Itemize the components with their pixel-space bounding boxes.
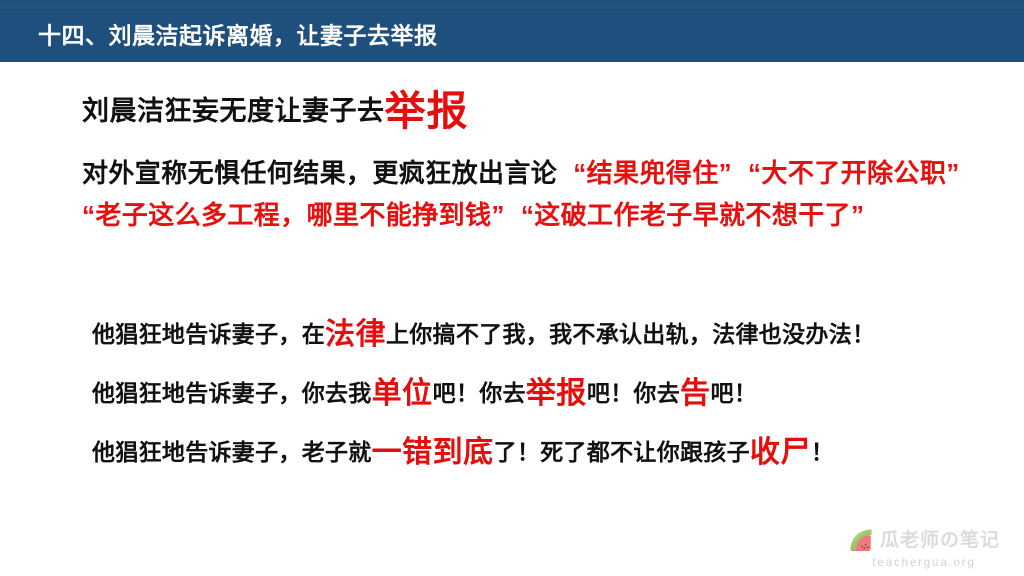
lead-black-text: 刘晨洁狂妄无度让妻子去 bbox=[82, 96, 385, 126]
watermark-name: 瓜老师の笔记 bbox=[880, 531, 1000, 550]
watermark: 瓜老师の笔记 teachergua.org bbox=[848, 527, 1000, 568]
watermelon-slice-icon bbox=[848, 527, 874, 553]
page-title: 十四、刘晨洁起诉离婚，让妻子去举报 bbox=[38, 24, 438, 47]
quote-red-3: “老子这么多工程，哪里不能挣到钱” bbox=[82, 200, 505, 230]
claim-segment: 他猖狂地告诉妻子，老子就 bbox=[92, 439, 372, 465]
claims-block: 他猖狂地告诉妻子，在法律上你搞不了我，我不承认出轨，法律也没办法！ 他猖狂地告诉… bbox=[92, 320, 992, 468]
slide-header-band: 十四、刘晨洁起诉离婚，让妻子去举报 bbox=[0, 6, 1024, 62]
claim-line: 他猖狂地告诉妻子，老子就一错到底了！死了都不让你跟孩子收尸！ bbox=[92, 438, 992, 468]
claim-line: 他猖狂地告诉妻子，你去我单位吧！你去举报吧！你去告吧！ bbox=[92, 379, 992, 409]
claim-highlight: 单位 bbox=[372, 377, 433, 410]
claim-highlight: 一错到底 bbox=[372, 436, 494, 469]
lead-red-highlight: 举报 bbox=[385, 88, 469, 134]
watermark-url: teachergua.org bbox=[872, 556, 975, 568]
claim-highlight: 告 bbox=[680, 377, 711, 410]
quote-red-2: “大不了开除公职” bbox=[748, 158, 960, 188]
claim-segment: 上你搞不了我，我不承认出轨，法律也没办法！ bbox=[386, 321, 875, 347]
watermark-row: 瓜老师の笔记 bbox=[848, 527, 1000, 553]
slide-canvas: 十四、刘晨洁起诉离婚，让妻子去举报 刘晨洁狂妄无度让妻子去举报 对外宣称无惧任何… bbox=[0, 0, 1024, 576]
claim-segment: 吧！ bbox=[711, 380, 758, 406]
claim-segment: 他猖狂地告诉妻子，在 bbox=[92, 321, 325, 347]
quote-block: 对外宣称无惧任何结果，更疯狂放出言论“结果兜得住”“大不了开除公职”“老子这么多… bbox=[82, 152, 988, 236]
lead-line: 刘晨洁狂妄无度让妻子去举报 bbox=[82, 86, 982, 137]
quote-red-4: “这破工作老子早就不想干了” bbox=[521, 200, 865, 230]
claim-highlight: 收尸 bbox=[750, 436, 811, 469]
claim-highlight: 法律 bbox=[325, 318, 386, 351]
claim-highlight: 举报 bbox=[526, 377, 587, 410]
claim-segment: ！ bbox=[811, 439, 834, 465]
lead-block: 刘晨洁狂妄无度让妻子去举报 bbox=[82, 86, 982, 137]
slide-body: 刘晨洁狂妄无度让妻子去举报 对外宣称无惧任何结果，更疯狂放出言论“结果兜得住”“… bbox=[0, 62, 1024, 576]
claim-line: 他猖狂地告诉妻子，在法律上你搞不了我，我不承认出轨，法律也没办法！ bbox=[92, 320, 992, 350]
quote-red-1: “结果兜得住” bbox=[573, 158, 732, 188]
claim-segment: 吧！你去 bbox=[587, 380, 680, 406]
quote-paragraph: 对外宣称无惧任何结果，更疯狂放出言论“结果兜得住”“大不了开除公职”“老子这么多… bbox=[82, 152, 988, 236]
quote-intro-text: 对外宣称无惧任何结果，更疯狂放出言论 bbox=[82, 158, 557, 188]
claim-segment: 吧！你去 bbox=[433, 380, 526, 406]
claim-segment: 了！死了都不让你跟孩子 bbox=[494, 439, 750, 465]
claim-segment: 他猖狂地告诉妻子，你去我 bbox=[92, 380, 372, 406]
